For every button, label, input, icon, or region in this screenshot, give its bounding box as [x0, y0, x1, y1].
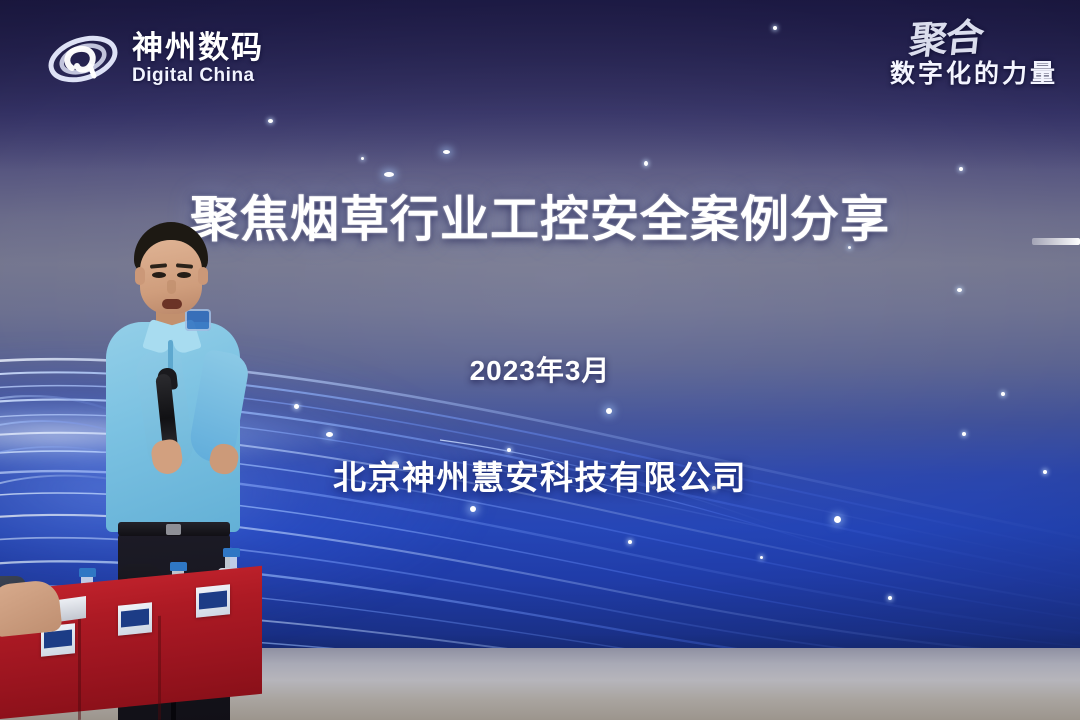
- speaker-eye-right: [177, 272, 191, 278]
- digital-china-logo: 神州数码 Digital China: [46, 20, 326, 98]
- speaker-nose: [167, 280, 176, 294]
- table-cloth-fold: [158, 616, 161, 720]
- slogan-subtitle: 数字化的力量: [798, 62, 1058, 87]
- speaker-ear-right: [198, 267, 208, 285]
- slogan-brush-text: 聚合: [907, 18, 984, 60]
- table-cloth-fold: [78, 612, 81, 720]
- bottle-cap: [223, 548, 240, 557]
- seated-attendee-arm: [0, 579, 63, 638]
- event-slogan: 聚合 数字化的力量: [798, 18, 1058, 114]
- name-card-strip: [121, 609, 149, 628]
- bottle-cap: [170, 562, 187, 571]
- name-card: [118, 602, 152, 636]
- brand-name-chinese: 神州数码: [132, 31, 264, 64]
- brand-name-english: Digital China: [132, 65, 264, 87]
- name-card-strip: [44, 630, 72, 649]
- speaker-shirt-logo: [185, 309, 211, 331]
- speaker-belt-buckle: [166, 524, 181, 535]
- name-card: [196, 584, 230, 618]
- digital-china-swirl-icon: [46, 28, 120, 90]
- name-card-strip: [199, 591, 227, 610]
- bottle-neck: [225, 557, 237, 568]
- digital-china-wordmark: 神州数码 Digital China: [132, 31, 264, 87]
- slide-accent-dash: [1032, 238, 1080, 245]
- conference-photo-scene: 神州数码 Digital China 聚合 数字化的力量 聚焦烟草行业工控安全案…: [0, 0, 1080, 720]
- speaker-ear-left: [135, 267, 145, 285]
- speaker-mouth: [162, 299, 182, 309]
- speaker-eye-left: [152, 272, 166, 278]
- bottle-cap: [79, 568, 96, 577]
